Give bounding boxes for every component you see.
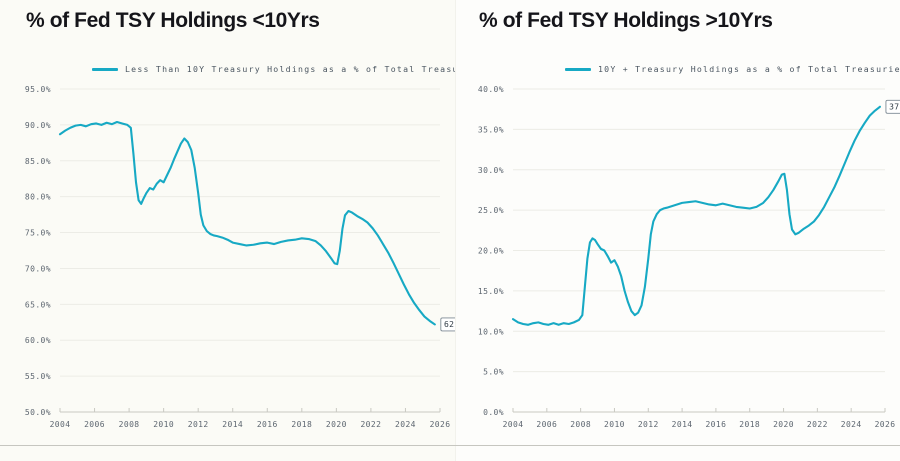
y-axis-tick-label: 95.0% [25, 85, 51, 94]
chart-panel-over-10yr: % of Fed TSY Holdings >10Yrs 10Y + Treas… [455, 0, 900, 461]
y-axis-tick-label: 10.0% [478, 327, 504, 336]
y-axis-tick-label: 65.0% [25, 300, 51, 309]
x-axis-tick-label: 2026 [430, 420, 451, 429]
x-axis-tick-label: 2006 [536, 420, 557, 429]
x-axis-tick-label: 2020 [326, 420, 347, 429]
y-axis-tick-label: 50.0% [25, 408, 51, 417]
page-title-left: % of Fed TSY Holdings <10Yrs [26, 9, 320, 33]
x-axis-tick-label: 2022 [807, 420, 828, 429]
y-axis-tick-label: 80.0% [25, 193, 51, 202]
y-axis-tick-label: 85.0% [25, 157, 51, 166]
x-axis-tick-label: 2008 [119, 420, 140, 429]
y-axis-tick-label: 30.0% [478, 166, 504, 175]
data-callout: 37.8% [886, 100, 900, 113]
x-axis-tick-label: 2024 [395, 420, 416, 429]
line-chart-left: 95.0%90.0%85.0%80.0%75.0%70.0%65.0%60.0%… [60, 89, 440, 412]
x-axis-tick-label: 2010 [153, 420, 174, 429]
x-axis-tick-label: 2026 [875, 420, 896, 429]
y-axis-tick-label: 40.0% [478, 85, 504, 94]
line-chart-right: 40.0%35.0%30.0%25.0%20.0%15.0%10.0%5.0%0… [513, 89, 885, 412]
x-axis-tick-label: 2012 [188, 420, 209, 429]
x-axis-tick-label: 2022 [360, 420, 381, 429]
series-line [513, 107, 880, 325]
legend-right: 10Y + Treasury Holdings as a % of Total … [565, 64, 900, 74]
legend-swatch-icon [92, 68, 118, 71]
x-axis-tick-label: 2024 [841, 420, 862, 429]
plot-area-left: 95.0%90.0%85.0%80.0%75.0%70.0%65.0%60.0%… [60, 89, 440, 412]
y-axis-tick-label: 15.0% [478, 287, 504, 296]
x-axis-tick-label: 2014 [672, 420, 693, 429]
x-axis-tick-label: 2008 [570, 420, 591, 429]
x-axis-tick-label: 2012 [638, 420, 659, 429]
legend-label-right: 10Y + Treasury Holdings as a % of Total … [598, 64, 900, 74]
y-axis-tick-label: 0.0% [483, 408, 504, 417]
x-axis-tick-label: 2014 [222, 420, 243, 429]
x-axis-tick-label: 2016 [705, 420, 726, 429]
y-axis-tick-label: 90.0% [25, 121, 51, 130]
x-axis-tick-label: 2004 [503, 420, 524, 429]
y-axis-tick-label: 35.0% [478, 125, 504, 134]
y-axis-tick-label: 5.0% [483, 368, 504, 377]
chart-panel-under-10yr: % of Fed TSY Holdings <10Yrs Less Than 1… [0, 0, 455, 461]
callout-value: 37.8% [889, 102, 900, 111]
plot-area-right: 40.0%35.0%30.0%25.0%20.0%15.0%10.0%5.0%0… [513, 89, 885, 412]
legend-swatch-icon [565, 68, 591, 71]
x-axis-tick-label: 2018 [739, 420, 760, 429]
x-axis-tick-label: 2010 [604, 420, 625, 429]
dashboard: % of Fed TSY Holdings <10Yrs Less Than 1… [0, 0, 900, 461]
x-axis-tick-label: 2020 [773, 420, 794, 429]
y-axis-tick-label: 20.0% [478, 247, 504, 256]
y-axis-tick-label: 55.0% [25, 372, 51, 381]
legend-label-left: Less Than 10Y Treasury Holdings as a % o… [125, 64, 483, 74]
legend-left: Less Than 10Y Treasury Holdings as a % o… [92, 64, 483, 74]
y-axis-tick-label: 75.0% [25, 229, 51, 238]
x-axis-tick-label: 2018 [291, 420, 312, 429]
y-axis-tick-label: 60.0% [25, 336, 51, 345]
x-axis-tick-label: 2016 [257, 420, 278, 429]
page-title-right: % of Fed TSY Holdings >10Yrs [479, 9, 773, 33]
y-axis-tick-label: 70.0% [25, 264, 51, 273]
bottom-divider [0, 445, 900, 446]
x-axis-tick-label: 2004 [50, 420, 71, 429]
x-axis-tick-label: 2006 [84, 420, 105, 429]
y-axis-tick-label: 25.0% [478, 206, 504, 215]
series-line [60, 122, 435, 324]
